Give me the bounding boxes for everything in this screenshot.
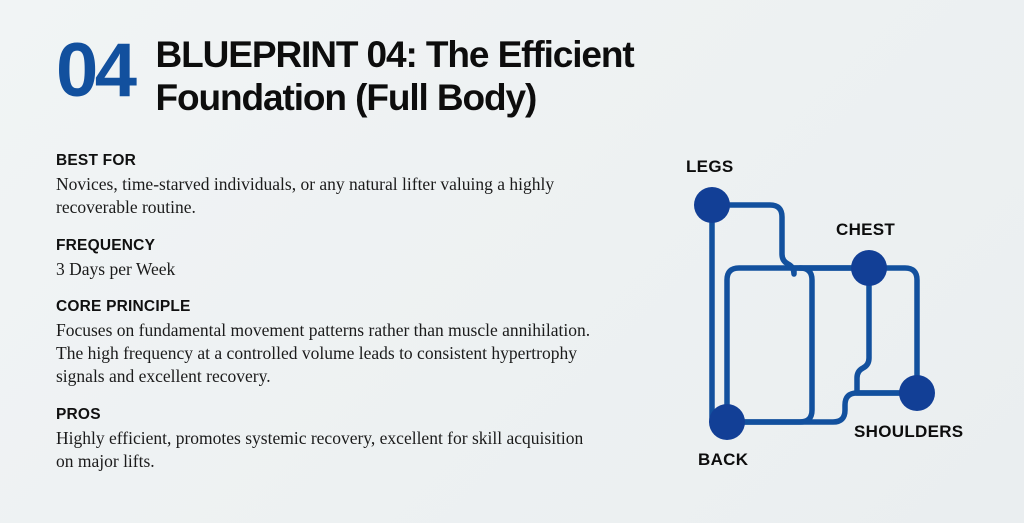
node-legs[interactable]	[694, 187, 730, 223]
slide-root: 04 BLUEPRINT 04: The Efficient Foundatio…	[0, 0, 1024, 523]
node-chest[interactable]	[851, 250, 887, 286]
page-title: BLUEPRINT 04: The Efficient Foundation (…	[156, 34, 756, 119]
section-body: 3 Days per Week	[56, 258, 604, 281]
edge-chest-shoulders	[857, 268, 917, 393]
section-core-principle: CORE PRINCIPLE Focuses on fundamental mo…	[56, 298, 616, 389]
section-heading: FREQUENCY	[56, 237, 616, 255]
section-body: Focuses on fundamental movement patterns…	[56, 319, 604, 389]
diagram-svg: LEGS CHEST SHOULDERS BACK	[650, 140, 1000, 490]
section-heading: BEST FOR	[56, 152, 616, 170]
section-heading: CORE PRINCIPLE	[56, 298, 616, 316]
edge-chest-shoulders-outer	[869, 268, 917, 393]
node-label-legs: LEGS	[686, 157, 734, 176]
content-column: BEST FOR Novices, time-starved individua…	[56, 152, 616, 473]
blueprint-number: 04	[56, 34, 134, 106]
edge-legs-chest	[712, 205, 869, 274]
section-frequency: FREQUENCY 3 Days per Week	[56, 237, 616, 281]
node-label-shoulders: SHOULDERS	[854, 422, 963, 441]
section-heading: PROS	[56, 406, 616, 424]
header: 04 BLUEPRINT 04: The Efficient Foundatio…	[56, 34, 968, 119]
muscle-group-circuit-diagram: LEGS CHEST SHOULDERS BACK	[650, 140, 1000, 490]
section-best-for: BEST FOR Novices, time-starved individua…	[56, 152, 616, 220]
node-label-chest: CHEST	[836, 220, 895, 239]
node-back[interactable]	[709, 404, 745, 440]
section-body: Novices, time-starved individuals, or an…	[56, 173, 604, 220]
section-body: Highly efficient, promotes systemic reco…	[56, 427, 604, 474]
section-pros: PROS Highly efficient, promotes systemic…	[56, 406, 616, 474]
edge-back-legs-riser	[727, 268, 812, 422]
edge-back-shoulders	[727, 393, 917, 422]
node-shoulders[interactable]	[899, 375, 935, 411]
node-label-back: BACK	[698, 450, 749, 469]
